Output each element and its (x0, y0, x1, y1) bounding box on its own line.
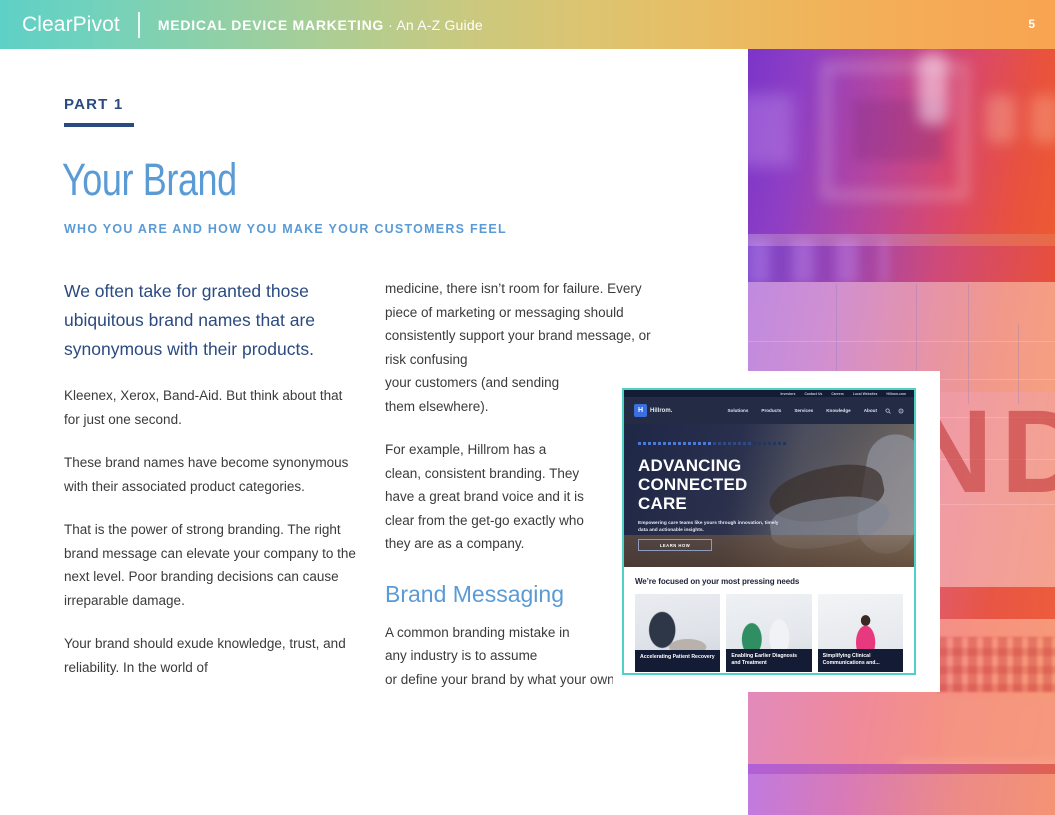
nav-item-about[interactable]: About (864, 408, 877, 413)
paragraph: For example, Hillrom has a clean, consis… (385, 438, 585, 556)
utility-link-careers[interactable]: Careers (831, 392, 844, 396)
site-nav-links: Solutions Products Services Knowledge Ab… (727, 408, 877, 413)
hero-dot-pattern (638, 442, 786, 445)
page-number: 5 (1028, 17, 1035, 31)
paragraph: A common branding mistake in any industr… (385, 621, 585, 668)
utility-link-local-websites[interactable]: Local Websites (853, 392, 878, 396)
gear-icon[interactable] (898, 408, 904, 414)
needs-card[interactable]: Simplifying Clinical Communications and.… (818, 594, 903, 672)
paragraph: medicine, there isn’t room for failure. … (385, 277, 660, 371)
hero-cta-button[interactable]: LEARN HOW (638, 539, 712, 551)
needs-card[interactable]: Accelerating Patient Recovery (635, 594, 720, 672)
paragraph: These brand names have become synonymous… (64, 451, 360, 498)
needs-card-label: Enabling Earlier Diagnosis and Treatment (726, 649, 811, 672)
site-utility-bar: Investors Contact Us Careers Local Websi… (624, 390, 914, 397)
needs-card-list: Accelerating Patient Recovery Enabling E… (635, 594, 903, 672)
needs-section-title: We’re focused on your most pressing need… (635, 577, 903, 586)
hillrom-website-screenshot: Investors Contact Us Careers Local Websi… (622, 388, 916, 675)
art-grid-line (748, 341, 1055, 342)
paragraph: That is the power of strong branding. Th… (64, 518, 360, 612)
hillrom-logo[interactable]: H Hillrom. (634, 404, 672, 417)
hillrom-screenshot-frame: Investors Contact Us Careers Local Websi… (613, 371, 940, 692)
art-light-blob (918, 53, 948, 125)
body-column-left: We often take for granted those ubiquito… (64, 277, 360, 699)
paragraph: Kleenex, Xerox, Band-Aid. But think abou… (64, 384, 360, 431)
needs-card-label: Accelerating Patient Recovery (635, 650, 720, 672)
paragraph: your customers (and sending them elsewhe… (385, 371, 585, 418)
part-underline (64, 123, 134, 127)
nav-item-knowledge[interactable]: Knowledge (826, 408, 851, 413)
art-keyboard-texture (938, 637, 1055, 692)
hillrom-logo-mark: H (634, 404, 647, 417)
nav-item-services[interactable]: Services (794, 408, 813, 413)
hero-subtext: Empowering care teams like yours through… (638, 521, 783, 534)
page-subtitle: WHO YOU ARE AND HOW YOU MAKE YOUR CUSTOM… (64, 222, 507, 236)
paragraph: Your brand should exude knowledge, trust… (64, 632, 360, 679)
utility-link-hillrom-com[interactable]: Hillrom.com (886, 392, 906, 396)
art-band-nine (748, 774, 1055, 815)
hero-headline-line-3: CARE (638, 494, 747, 513)
utility-link-investors[interactable]: Investors (780, 392, 795, 396)
lead-paragraph: We often take for granted those ubiquito… (64, 277, 360, 364)
header-title-bold: MEDICAL DEVICE MARKETING (158, 17, 384, 33)
site-needs-section: We’re focused on your most pressing need… (624, 567, 914, 675)
art-blob-left (748, 94, 793, 166)
utility-link-contact[interactable]: Contact Us (805, 392, 823, 396)
needs-card[interactable]: Enabling Earlier Diagnosis and Treatment (726, 594, 811, 672)
document-page: ClearPivot MEDICAL DEVICE MARKETING · An… (0, 0, 1055, 815)
header-divider (138, 12, 140, 38)
header-title: MEDICAL DEVICE MARKETING · An A-Z Guide (158, 17, 483, 33)
hero-headline-line-2: CONNECTED (638, 475, 747, 494)
art-arch-texture (748, 239, 888, 284)
part-label: PART 1 (64, 96, 123, 113)
header-title-light: An A-Z Guide (396, 17, 482, 33)
site-navigation-bar: H Hillrom. Solutions Products Services K… (624, 397, 914, 424)
nav-item-solutions[interactable]: Solutions (727, 408, 748, 413)
hillrom-logo-text: Hillrom. (650, 408, 672, 414)
header-title-separator: · (384, 17, 396, 33)
hero-headline-line-1: ADVANCING (638, 456, 747, 475)
site-hero: ADVANCING CONNECTED CARE Empowering care… (624, 424, 914, 567)
clearpivot-logo: ClearPivot (22, 13, 120, 37)
art-right-blob-one (986, 95, 1016, 143)
hero-headline: ADVANCING CONNECTED CARE (638, 456, 747, 513)
search-icon[interactable] (885, 408, 891, 414)
art-band-eight (748, 764, 1055, 774)
nav-item-products[interactable]: Products (761, 408, 781, 413)
page-header: ClearPivot MEDICAL DEVICE MARKETING · An… (0, 0, 1055, 49)
page-title: Your Brand (62, 154, 237, 206)
needs-card-label: Simplifying Clinical Communications and.… (818, 649, 903, 672)
art-right-blob-two (1030, 95, 1055, 143)
site-nav-icons (885, 408, 904, 414)
